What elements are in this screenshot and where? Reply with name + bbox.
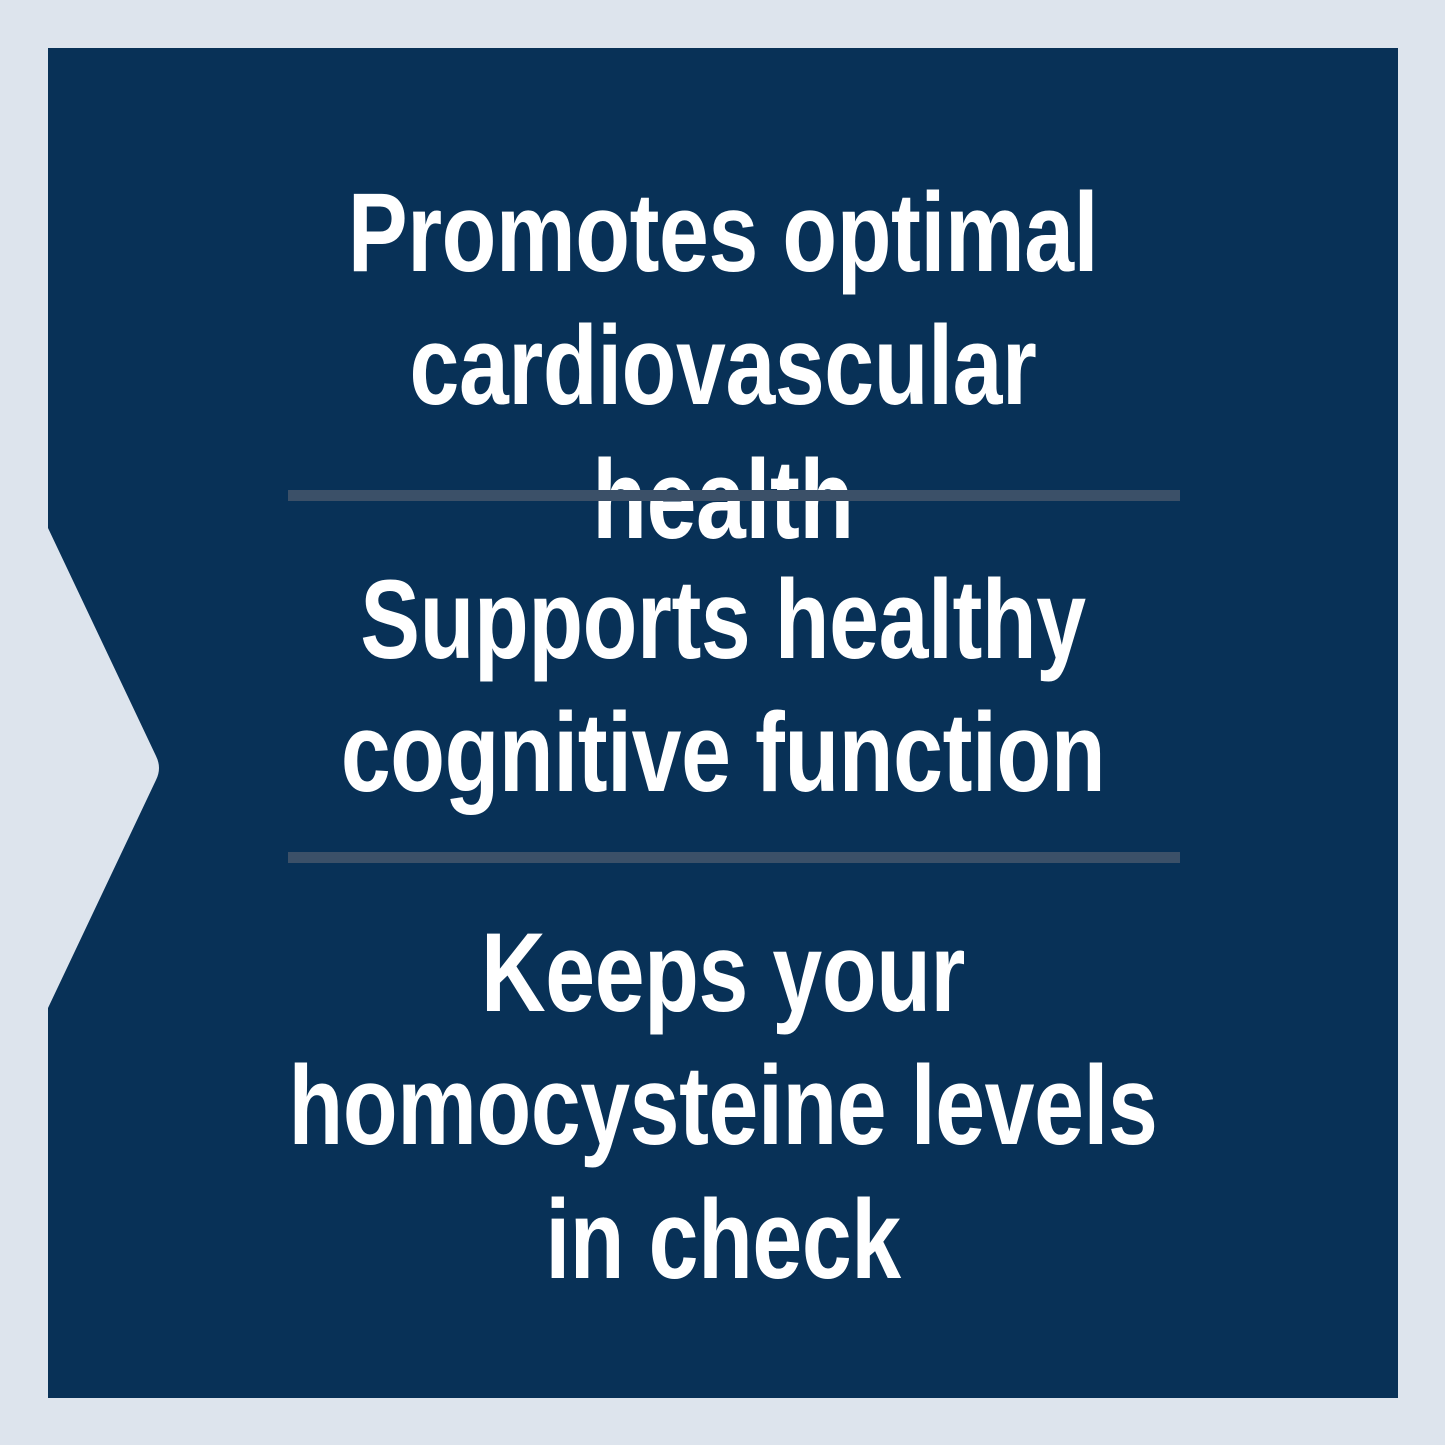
benefit-item-cardiovascular: Promotes optimal cardiovascular health xyxy=(279,166,1167,566)
benefit-divider-2 xyxy=(288,852,1180,863)
benefit-item-cognitive: Supports healthy cognitive function xyxy=(279,553,1167,820)
benefits-list: Promotes optimal cardiovascular health S… xyxy=(48,48,1398,1398)
benefit-item-homocysteine: Keeps your homocysteine levels in check xyxy=(279,906,1167,1306)
benefits-graphic: Promotes optimal cardiovascular health S… xyxy=(0,0,1445,1445)
benefit-divider-1 xyxy=(288,490,1180,501)
benefits-panel: Promotes optimal cardiovascular health S… xyxy=(48,48,1398,1398)
